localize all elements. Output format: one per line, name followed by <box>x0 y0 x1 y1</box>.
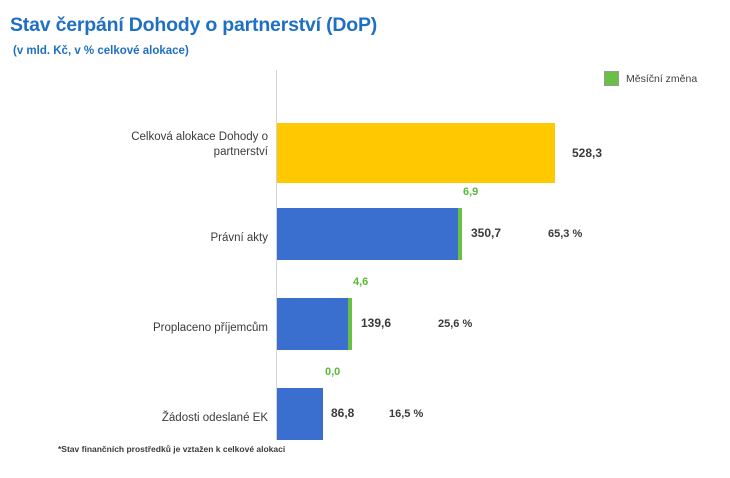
percent-label-requests-sent-to-ec: 16,5 % <box>389 408 423 420</box>
percent-label-paid-to-recipients: 25,6 % <box>438 318 472 330</box>
bar-group-total-allocation <box>277 123 555 183</box>
bar-segment-paid-to-recipients[interactable] <box>277 298 348 350</box>
bar-row-requests-sent-to-ec: Žádosti odeslané EK 0,0 86,8 16,5 % <box>0 358 730 448</box>
bar-row-total-allocation: Celková alokace Dohody o partnerství 528… <box>0 90 730 180</box>
value-label-requests-sent-to-ec: 86,8 <box>331 406 354 420</box>
chart-footnote: *Stav finančních prostředků je vztažen k… <box>58 444 285 454</box>
bar-group-legal-acts <box>277 208 462 260</box>
page-title: Stav čerpání Dohody o partnerství (DoP) <box>10 14 377 37</box>
bar-row-legal-acts: Právní akty 6,9 350,7 65,3 % <box>0 178 730 268</box>
delta-label-legal-acts: 6,9 <box>463 186 478 198</box>
bar-segment-total-allocation[interactable] <box>277 123 555 183</box>
value-label-total-allocation: 528,3 <box>572 146 602 160</box>
chart-plot-area: Celková alokace Dohody o partnerství 528… <box>0 60 730 445</box>
category-label-requests-sent-to-ec: Žádosti odeslané EK <box>53 411 268 426</box>
category-label-paid-to-recipients: Proplaceno příjemcům <box>53 321 268 336</box>
delta-label-paid-to-recipients: 4,6 <box>353 276 368 288</box>
bar-group-requests-sent-to-ec <box>277 388 323 440</box>
category-label-line1: Celková alokace Dohody o <box>131 131 268 143</box>
category-label-line2: partnerství <box>214 146 268 158</box>
delta-label-requests-sent-to-ec: 0,0 <box>325 366 340 378</box>
category-label-total-allocation: Celková alokace Dohody o partnerství <box>53 130 268 160</box>
bar-group-paid-to-recipients <box>277 298 352 350</box>
chart-subtitle: (v mld. Kč, v % celkové alokace) <box>13 45 189 57</box>
value-label-paid-to-recipients: 139,6 <box>361 316 391 330</box>
bar-segment-requests-sent-to-ec[interactable] <box>277 388 323 440</box>
bar-row-paid-to-recipients: Proplaceno příjemcům 4,6 139,6 25,6 % <box>0 268 730 358</box>
value-label-legal-acts: 350,7 <box>471 226 501 240</box>
percent-label-legal-acts: 65,3 % <box>548 228 582 240</box>
bar-segment-monthly-change-legal-acts[interactable] <box>458 208 462 260</box>
bar-segment-monthly-change-paid-to-recipients[interactable] <box>348 298 352 350</box>
bar-segment-legal-acts[interactable] <box>277 208 458 260</box>
category-label-legal-acts: Právní akty <box>53 231 268 246</box>
